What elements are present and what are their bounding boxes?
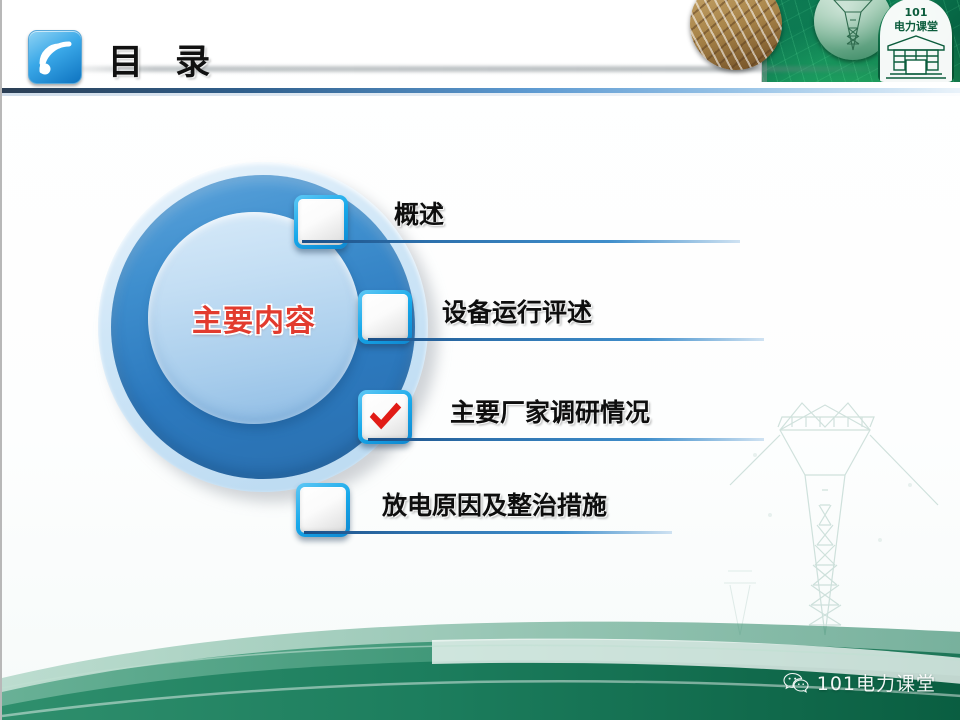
svg-text:电力课堂: 电力课堂 [894,19,938,33]
footer-brand: 101电力课堂 [783,669,936,696]
bottom-wave-decoration [2,580,960,720]
page-title: 目 录 [108,34,220,85]
checkbox-item-3[interactable] [358,390,412,444]
checkbox-item-2[interactable] [358,290,412,344]
menu-underline-4 [304,531,672,534]
empty-checkbox-icon [362,294,408,340]
menu-underline-3 [368,438,764,441]
header-divider-soft [2,93,960,96]
empty-checkbox-icon [300,487,346,533]
slide-header: 目 录 [2,12,662,84]
diagram-center-label: 主要内容 [148,296,360,340]
menu-label-3: 主要厂家调研情况 [450,393,650,429]
brand-emblem-logo: 101 电力课堂 [878,0,954,82]
svg-text:101: 101 [905,6,928,19]
menu-label-2: 设备运行评述 [442,293,592,329]
menu-underline-1 [302,240,740,243]
empty-checkbox-icon [298,199,344,245]
menu-label-4: 放电原因及整治措施 [382,486,607,522]
checkbox-item-4[interactable] [296,483,350,537]
slide-canvas: 101 电力课堂 目 录 [0,0,960,720]
menu-underline-2 [368,338,764,341]
footer-brand-text: 101电力课堂 [817,669,936,696]
rss-icon [28,30,82,84]
red-checkmark-icon [362,394,408,440]
menu-label-1: 概述 [394,195,444,231]
contents-diagram: 主要内容 概述 设备运行评述 [2,100,960,660]
wechat-icon [783,672,809,694]
